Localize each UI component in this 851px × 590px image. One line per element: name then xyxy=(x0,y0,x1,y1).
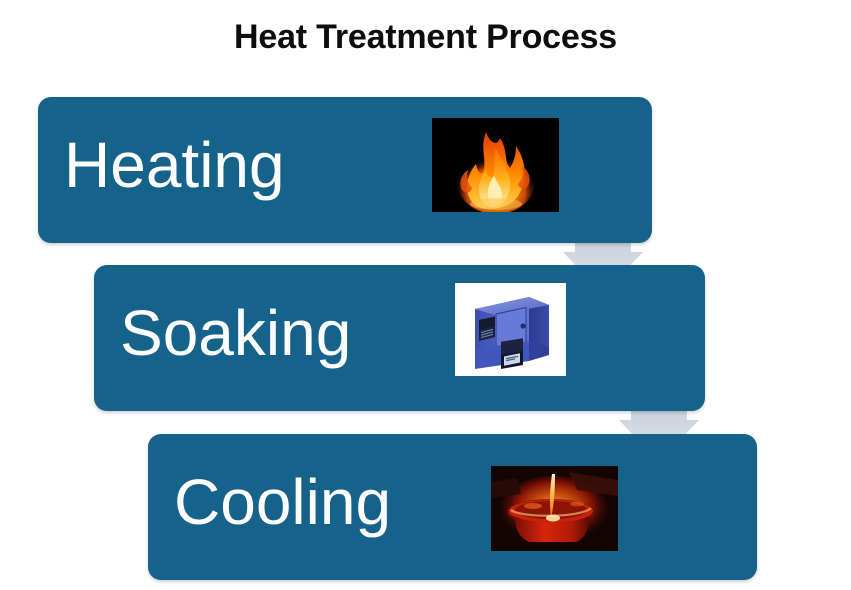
step-label-heating: Heating xyxy=(64,133,285,197)
diagram-canvas: Heat Treatment Process Heating xyxy=(0,0,851,590)
process-step-cooling[interactable]: Cooling xyxy=(148,434,757,580)
process-step-soaking[interactable]: Soaking xyxy=(94,265,705,411)
process-step-heating[interactable]: Heating xyxy=(38,97,652,243)
fire-flame-photo xyxy=(432,118,559,212)
page-title: Heat Treatment Process xyxy=(0,18,851,57)
furnace-oven-photo xyxy=(455,283,566,376)
molten-metal-quench-photo xyxy=(491,466,618,551)
step-label-cooling: Cooling xyxy=(174,470,391,534)
step-label-soaking: Soaking xyxy=(120,301,351,365)
